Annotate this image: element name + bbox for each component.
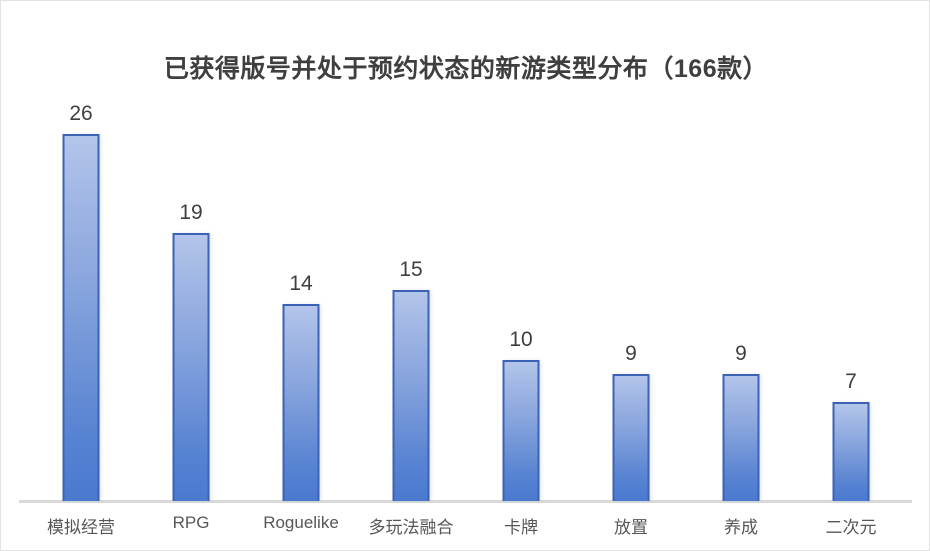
bar-rect[interactable] (613, 374, 650, 501)
bar-value-label: 9 (735, 342, 747, 366)
bar-group: 10 (466, 51, 576, 501)
chart-container: 已获得版号并处于预约状态的新游类型分布（166款） 26 19 14 15 10… (0, 0, 930, 551)
bar-rect[interactable] (503, 360, 540, 501)
bar-group: 19 (136, 51, 246, 501)
bar-rect[interactable] (393, 290, 430, 502)
bar-value-label: 7 (845, 370, 857, 394)
bar-group: 15 (356, 51, 466, 501)
bar-value-label: 9 (625, 342, 637, 366)
bar-rect[interactable] (833, 402, 870, 501)
bar-rect[interactable] (723, 374, 760, 501)
bar-value-label: 19 (179, 201, 202, 225)
bar-value-label: 15 (399, 258, 422, 282)
x-axis-label-7: 二次元 (776, 513, 926, 538)
bar-rect[interactable] (173, 233, 210, 501)
bar-group: 26 (26, 51, 136, 501)
bar-group: 9 (576, 51, 686, 501)
bar-group: 7 (796, 51, 906, 501)
bar-rect[interactable] (63, 134, 100, 501)
bar-group: 9 (686, 51, 796, 501)
bar-group: 14 (246, 51, 356, 501)
plot-area: 26 19 14 15 10 9 9 7 模 (1, 1, 930, 551)
bar-value-label: 26 (69, 102, 92, 126)
bar-rect[interactable] (283, 304, 320, 501)
bar-value-label: 10 (509, 328, 532, 352)
bar-value-label: 14 (289, 272, 312, 296)
